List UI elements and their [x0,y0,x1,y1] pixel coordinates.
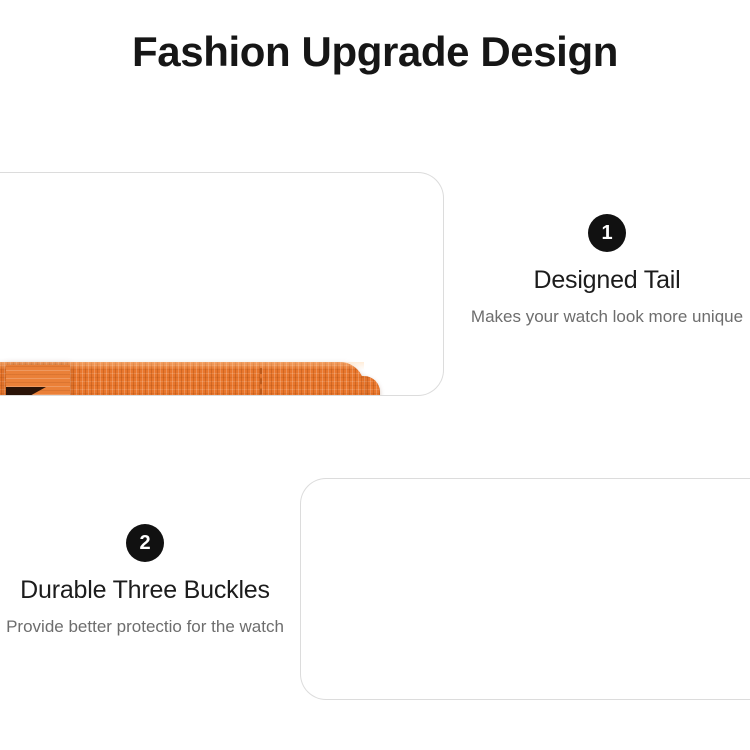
photo-card-designed-tail: KB 05 SWEATPROOF DURABLE TENACITY Kalebo… [0,172,444,396]
feature-description-1: Makes your watch look more unique [462,304,750,329]
feature-block-three-buckles: 2 Durable Three Buckles Provide better p… [0,524,290,639]
product-feature-page: Fashion Upgrade Design KB 05 SWEATPROOF … [0,0,750,750]
feature-badge-2: 2 [126,524,164,562]
page-title: Fashion Upgrade Design [0,28,750,76]
photo-card-three-buckles [300,478,750,700]
feature-title-1: Designed Tail [462,266,750,295]
feature-description-2: Provide better protectio for the watch [0,614,290,639]
feature-title-2: Durable Three Buckles [0,576,290,605]
strap-seam-stitch [260,368,262,396]
keeper-shadow-wedge-top [6,387,46,396]
feature-block-designed-tail: 1 Designed Tail Makes your watch look mo… [462,214,750,329]
feature-badge-1: 1 [588,214,626,252]
